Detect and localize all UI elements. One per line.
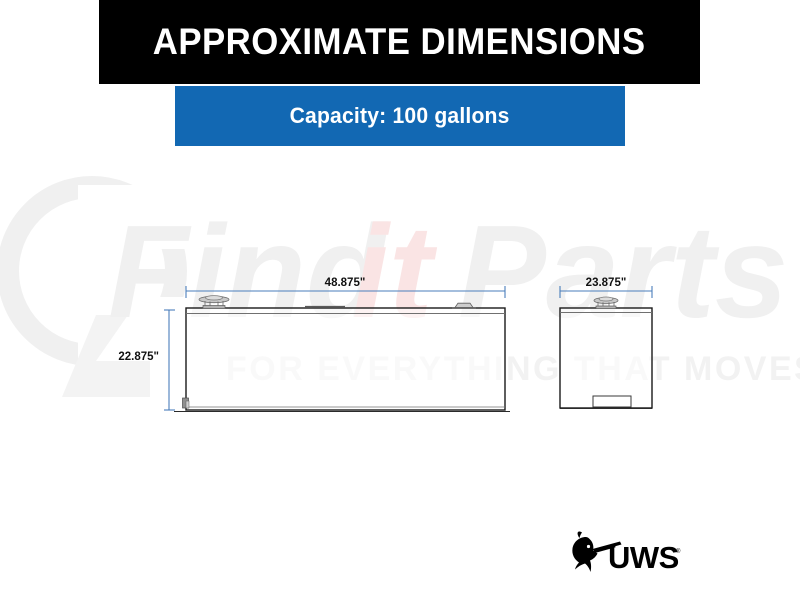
- front-tank-body: [186, 308, 505, 410]
- side-bottom-sump: [593, 396, 631, 407]
- side-width-label: 23.875": [586, 277, 627, 289]
- front-width-label: 48.875": [325, 277, 366, 289]
- uws-wordmark: UWS: [608, 540, 679, 575]
- front-vent-cap-small: [452, 303, 476, 308]
- tank-dimension-drawing: 48.875" 22.875": [0, 0, 800, 600]
- side-vent-cap-large: [594, 297, 618, 309]
- uws-logo: UWS ®: [566, 531, 682, 575]
- uws-trademark: ®: [676, 548, 681, 555]
- front-view-group: 48.875" 22.875": [118, 277, 510, 412]
- side-tank-body: [560, 308, 652, 408]
- front-height-label: 22.875": [118, 351, 159, 363]
- front-vent-cap-large: [199, 296, 229, 309]
- front-height-dimension: [164, 310, 175, 410]
- front-mounting-foot: [183, 398, 190, 408]
- side-view-group: 23.875": [560, 277, 652, 409]
